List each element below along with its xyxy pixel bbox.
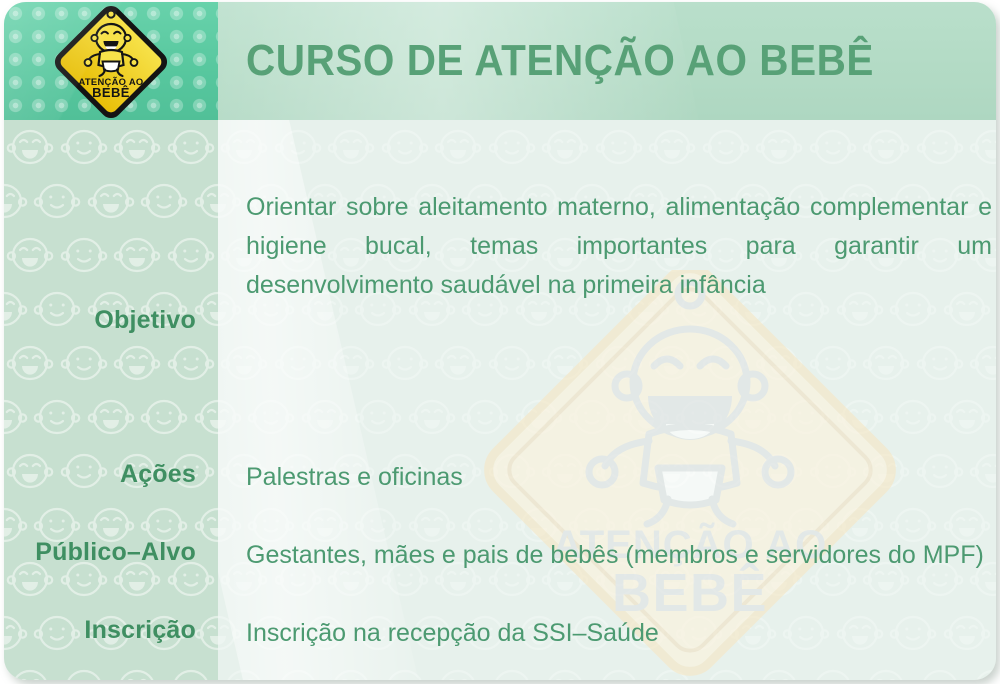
label-column: Objetivo Ações Público–Alvo Inscrição Pe… (4, 120, 218, 680)
card-body: Objetivo Ações Público–Alvo Inscrição Pe… (4, 120, 996, 680)
label-rows: Objetivo Ações Público–Alvo Inscrição Pe… (4, 120, 218, 680)
row-value-objetivo: Orientar sobre aleitamento materno, alim… (246, 188, 992, 305)
card-header: ATENÇÃO AO BEBÊ CURSO DE ATENÇÃO AO BEBÊ (4, 2, 996, 120)
row-label-publico-alvo: Público–Alvo (35, 538, 196, 567)
course-info-card: ATENÇÃO AO BEBÊ CURSO DE ATENÇÃO AO BEBÊ (4, 2, 996, 680)
baby-face-pattern-right (218, 120, 996, 680)
header-title-cell: CURSO DE ATENÇÃO AO BEBÊ (218, 2, 996, 120)
atencao-ao-bebe-watermark-icon: ATENÇÃO AO BEBÊ (480, 270, 900, 680)
atencao-ao-bebe-badge-icon: ATENÇÃO AO BEBÊ (4, 2, 218, 120)
baby-face-pattern-left (4, 120, 218, 680)
row-label-inscricao: Inscrição (84, 616, 196, 645)
header-logo-cell: ATENÇÃO AO BEBÊ (4, 2, 218, 120)
row-label-acoes: Ações (120, 460, 196, 489)
page-title: CURSO DE ATENÇÃO AO BEBÊ (246, 36, 874, 86)
watermark-line2: BEBÊ (612, 562, 768, 623)
badge-line2: BEBÊ (92, 85, 130, 100)
row-value-publico-alvo: Gestantes, mães e pais de bebês (membros… (246, 536, 992, 575)
row-label-objetivo: Objetivo (94, 306, 196, 335)
content-column: ATENÇÃO AO BEBÊ Orientar sobre aleitamen… (218, 120, 996, 680)
watermark-line1: ATENÇÃO AO (553, 521, 827, 567)
row-value-inscricao: Inscrição na recepção da SSI–Saúde (246, 614, 992, 653)
row-value-acoes: Palestras e oficinas (246, 458, 992, 497)
value-rows: Orientar sobre aleitamento materno, alim… (218, 120, 996, 680)
